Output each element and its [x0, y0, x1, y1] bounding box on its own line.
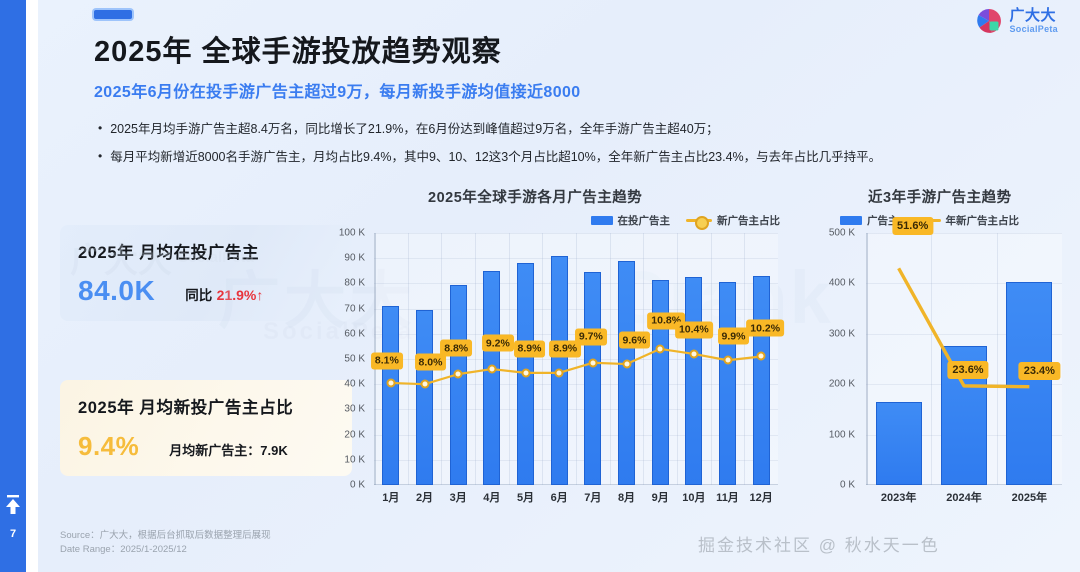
plot-area-yearly: 0 K100 K200 K300 K400 K500 K 2023年2024年2… [866, 233, 1062, 485]
line-data-point[interactable] [588, 358, 597, 367]
x-axis-tick-label: 9月 [652, 489, 669, 505]
card-sub-label: 月均新广告主：7.9K [169, 440, 287, 459]
legend-label: 新广告主占比 [717, 213, 780, 228]
line-data-point[interactable] [757, 352, 766, 361]
y-axis-tick-label: 0 K [350, 480, 365, 491]
line-data-point[interactable] [386, 378, 395, 387]
legend-label: 在投广告主 [618, 213, 671, 228]
chart-yearly: 广告主 年新广告主占比 0 K100 K200 K300 K400 K500 K… [800, 205, 1068, 515]
slide-canvas: 广大大 SocialPeta 2025年 全球手游投放趋势观察 2025年6月份… [38, 0, 1080, 572]
socialpeta-logo-icon [976, 8, 1002, 34]
community-watermark: 掘金技术社区 @ 秋水天一色 [698, 531, 940, 556]
card-compare-label: 同比 [185, 288, 212, 303]
brand-name-cn: 广大大 [1009, 8, 1058, 23]
y-axis-tick-label: 60 K [344, 328, 365, 339]
x-axis-tick-label: 11月 [716, 489, 739, 505]
card-title: 2025年 月均在投广告主 [78, 239, 334, 263]
line-data-point[interactable] [555, 368, 564, 377]
data-label: 23.4% [1019, 362, 1060, 380]
source-note: Source：广大大，根据后台抓取后数据整理后展现 Date Range：202… [60, 529, 271, 558]
page-title: 2025年 全球手游投放趋势观察 [94, 28, 502, 70]
card-compare-value: 21.9%↑ [217, 287, 264, 303]
x-axis-tick-label: 2月 [416, 489, 433, 505]
bullet-list: • 2025年月均手游广告主超8.4万名，同比增长了21.9%，在6月份达到峰值… [98, 120, 1048, 176]
legend-item-bar[interactable]: 广告主 [840, 213, 899, 228]
date-range-line: Date Range：2025/1-2025/12 [60, 543, 271, 558]
bullet-text: 每月平均新增近8000名手游广告主，月均占比9.4%，其中9、10、12这3个月… [110, 148, 881, 167]
left-rail: 7 [0, 0, 26, 572]
data-label: 9.9% [718, 328, 750, 345]
bullet-dot-icon: • [98, 148, 102, 165]
chart-legend-monthly: 在投广告主 新广告主占比 [591, 213, 781, 228]
line-data-point[interactable] [487, 365, 496, 374]
x-axis-tick-label: 7月 [584, 489, 601, 505]
upload-arrow-icon[interactable] [4, 495, 22, 520]
x-axis-tick-label: 6月 [551, 489, 568, 505]
data-label: 23.6% [947, 361, 988, 379]
legend-item-bar[interactable]: 在投广告主 [591, 213, 671, 228]
data-label: 8.9% [514, 340, 546, 357]
rail-divider [26, 0, 38, 572]
chart-monthly: 在投广告主 新广告主占比 0 K10 K20 K30 K40 K50 K60 K… [316, 205, 786, 515]
chart-title-monthly: 2025年全球手游各月广告主趋势 [428, 186, 642, 207]
legend-swatch-bar-icon [840, 216, 862, 225]
source-line: Source：广大大，根据后台抓取后数据整理后展现 [60, 529, 271, 544]
y-axis-tick-label: 200 K [829, 379, 855, 390]
x-axis-tick-label: 2025年 [1012, 489, 1047, 505]
data-label: 9.2% [482, 335, 514, 352]
y-axis-monthly: 0 K10 K20 K30 K40 K50 K60 K70 K80 K90 K1… [316, 233, 372, 485]
y-axis-tick-label: 400 K [829, 278, 855, 289]
line-data-point[interactable] [622, 360, 631, 369]
legend-swatch-bar-icon [591, 216, 613, 225]
card-title: 2025年 月均新投广告主占比 [78, 394, 334, 418]
y-axis-tick-label: 80 K [344, 278, 365, 289]
stat-card-active-advertisers: 广大大 SocialPeta 2025年 月均在投广告主 84.0K 同比 21… [60, 225, 352, 321]
y-axis-tick-label: 50 K [344, 354, 365, 365]
y-axis-tick-label: 0 K [840, 480, 855, 491]
bullet-text: 2025年月均手游广告主超8.4万名，同比增长了21.9%，在6月份达到峰值超过… [110, 120, 718, 139]
legend-label: 年新广告主占比 [946, 213, 1020, 228]
data-label: 8.8% [440, 340, 472, 357]
brand-logo: 广大大 SocialPeta [976, 8, 1058, 34]
page-subtitle: 2025年6月份在投手游广告主超过9万，每月新投手游均值接近8000 [94, 78, 581, 102]
line-series [866, 233, 1062, 485]
data-label: 51.6% [892, 217, 933, 235]
legend-item-line[interactable]: 新广告主占比 [686, 213, 780, 228]
x-axis-tick-label: 2023年 [881, 489, 916, 505]
x-axis-tick-label: 10月 [682, 489, 705, 505]
data-label: 10.4% [675, 321, 713, 338]
data-label: 9.7% [575, 328, 607, 345]
y-axis-yearly: 0 K100 K200 K300 K400 K500 K [800, 233, 862, 485]
x-axis-tick-label: 12月 [750, 489, 773, 505]
x-axis-tick-label: 2024年 [946, 489, 981, 505]
list-item: • 2025年月均手游广告主超8.4万名，同比增长了21.9%，在6月份达到峰值… [98, 120, 1048, 139]
bullet-dot-icon: • [98, 120, 102, 137]
stat-card-new-advertiser-share: 2025年 月均新投广告主占比 9.4% 月均新广告主：7.9K [60, 380, 352, 476]
card-value: 9.4% [78, 431, 139, 462]
brand-name-en: SocialPeta [1009, 25, 1058, 34]
card-value: 84.0K [78, 275, 155, 307]
y-axis-tick-label: 100 K [339, 228, 365, 239]
page-number: 7 [10, 528, 16, 540]
line-data-point[interactable] [454, 370, 463, 379]
y-axis-tick-label: 90 K [344, 253, 365, 264]
y-axis-tick-label: 100 K [829, 429, 855, 440]
line-data-point[interactable] [689, 349, 698, 358]
line-data-point[interactable] [420, 380, 429, 389]
y-axis-tick-label: 40 K [344, 379, 365, 390]
y-axis-tick-label: 30 K [344, 404, 365, 415]
y-axis-tick-label: 70 K [344, 303, 365, 314]
line-data-point[interactable] [656, 344, 665, 353]
line-data-point[interactable] [723, 356, 732, 365]
x-axis-tick-label: 5月 [517, 489, 534, 505]
y-axis-tick-label: 10 K [344, 454, 365, 465]
legend-swatch-line-icon [686, 219, 712, 222]
data-label: 9.6% [619, 332, 651, 349]
y-axis-tick-label: 500 K [829, 228, 855, 239]
list-item: • 每月平均新增近8000名手游广告主，月均占比9.4%，其中9、10、12这3… [98, 148, 1048, 167]
plot-area-monthly: 0 K10 K20 K30 K40 K50 K60 K70 K80 K90 K1… [374, 233, 778, 485]
x-axis-tick-label: 4月 [483, 489, 500, 505]
x-axis-tick-label: 8月 [618, 489, 635, 505]
y-axis-tick-label: 20 K [344, 429, 365, 440]
line-data-point[interactable] [521, 368, 530, 377]
y-axis-tick-label: 300 K [829, 328, 855, 339]
x-axis-tick-label: 1月 [382, 489, 399, 505]
data-label: 8.1% [371, 352, 403, 369]
data-label: 10.2% [746, 320, 784, 337]
x-axis-tick-label: 3月 [450, 489, 467, 505]
chart-title-yearly: 近3年手游广告主趋势 [868, 186, 1012, 207]
accent-bar [94, 10, 132, 19]
